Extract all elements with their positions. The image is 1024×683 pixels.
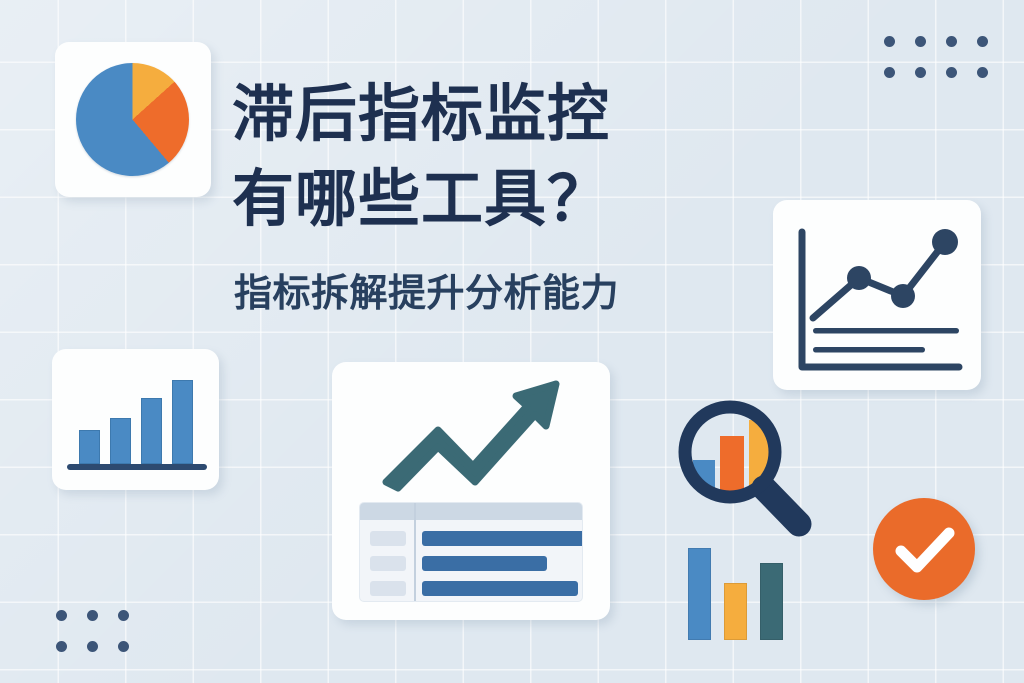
dot: [87, 610, 98, 621]
line-chart-card: [773, 200, 981, 390]
bar: [688, 548, 711, 640]
check-circle-icon: [873, 498, 975, 600]
table-row: [370, 531, 572, 546]
poster-canvas: 滞后指标监控 有哪些工具？ 指标拆解提升分析能力: [0, 0, 1024, 683]
table-header: [360, 503, 582, 520]
bar: [110, 418, 131, 464]
magnifier-icon: [668, 396, 838, 561]
standalone-bar-group: [688, 548, 783, 640]
pie-chart-card: [55, 42, 211, 197]
data-table: [359, 502, 583, 602]
decorative-dots-top-right: [884, 36, 988, 78]
dot: [946, 36, 957, 47]
dot: [118, 610, 129, 621]
dot: [915, 36, 926, 47]
bar: [141, 398, 162, 464]
dot: [56, 641, 67, 652]
dot: [87, 641, 98, 652]
pie-chart-icon: [76, 63, 189, 176]
dot: [118, 641, 129, 652]
table-row: [370, 581, 572, 596]
dot: [977, 67, 988, 78]
page-title: 滞后指标监控 有哪些工具？: [232, 72, 792, 242]
bar-chart-card: [52, 349, 219, 490]
table-row-value-bar: [422, 531, 583, 546]
bar: [172, 380, 193, 464]
decorative-dots-bottom-left: [56, 610, 129, 652]
dot: [946, 67, 957, 78]
trend-up-arrow-icon: [380, 378, 570, 494]
table-row-value-bar: [422, 581, 578, 596]
table-row-label: [370, 531, 406, 546]
page-subtitle: 指标拆解提升分析能力: [234, 270, 619, 318]
dot: [884, 36, 895, 47]
table-row-label: [370, 556, 406, 571]
bar-chart-baseline: [67, 464, 207, 470]
dot: [884, 67, 895, 78]
dot: [56, 610, 67, 621]
line-chart-icon: [773, 200, 981, 390]
table-row: [370, 556, 572, 571]
table-row-label: [370, 581, 406, 596]
bar-chart-icon: [79, 380, 194, 464]
bar: [79, 430, 100, 464]
dot: [977, 36, 988, 47]
table-row-value-bar: [422, 556, 547, 571]
dot: [915, 67, 926, 78]
bar: [760, 563, 783, 640]
dashboard-card: [332, 362, 610, 620]
bar: [724, 583, 747, 640]
